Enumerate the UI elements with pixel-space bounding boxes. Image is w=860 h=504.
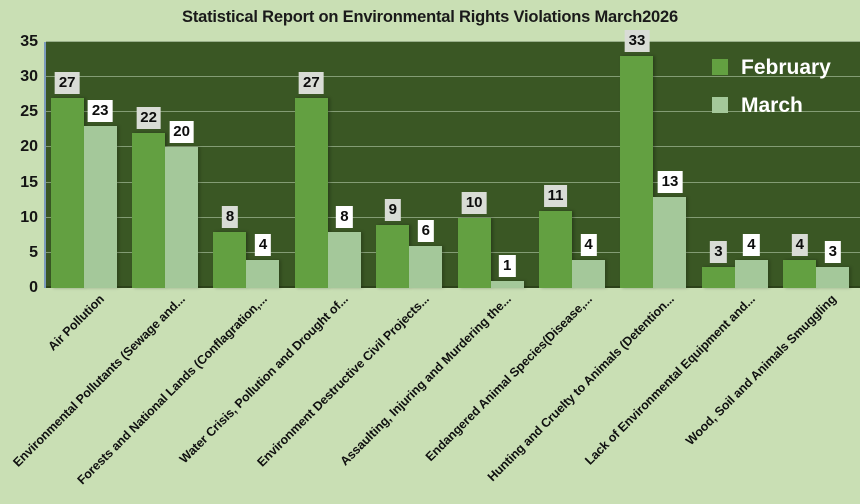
bar-feb[interactable] bbox=[539, 211, 572, 288]
bar-value-label: 23 bbox=[88, 100, 113, 122]
bar-value-label: 33 bbox=[625, 30, 650, 52]
x-axis-tick-label: Endangered Animal Species(Disease,... bbox=[423, 292, 595, 464]
bar-mar[interactable] bbox=[735, 260, 768, 288]
bar-mar[interactable] bbox=[816, 267, 849, 288]
bar-feb[interactable] bbox=[295, 98, 328, 288]
bar-mar[interactable] bbox=[491, 281, 524, 288]
bar-mar[interactable] bbox=[165, 147, 198, 288]
bar-mar[interactable] bbox=[572, 260, 605, 288]
bar-value-label: 8 bbox=[336, 206, 352, 228]
bar-value-label: 11 bbox=[544, 185, 568, 207]
bar-value-label: 27 bbox=[299, 72, 324, 94]
bar-group: 114 bbox=[534, 42, 615, 288]
bar-feb[interactable] bbox=[702, 267, 735, 288]
x-axis-tick-label: Lack of Environmental Equipment and... bbox=[582, 292, 758, 468]
bar-value-label: 9 bbox=[385, 199, 401, 221]
x-axis-tick-label: Environmental Pollutants (Sewage and... bbox=[10, 292, 188, 470]
y-axis-tick-label: 10 bbox=[0, 210, 38, 226]
bar-feb[interactable] bbox=[376, 225, 409, 288]
bar-group: 2723 bbox=[46, 42, 127, 288]
x-axis-tick-label: Water Crisis, Pollution and Drought of..… bbox=[177, 292, 351, 466]
bar-value-label: 4 bbox=[743, 234, 759, 256]
x-axis: Air PollutionEnvironmental Pollutants (S… bbox=[44, 292, 860, 502]
bar-value-label: 22 bbox=[136, 107, 161, 129]
x-axis-tick-label: Environment Destructive Civil Projects..… bbox=[255, 292, 432, 469]
bar-mar[interactable] bbox=[653, 197, 686, 288]
legend-item-mar[interactable]: March bbox=[712, 86, 852, 124]
y-axis-tick-label: 15 bbox=[0, 175, 38, 191]
bar-mar[interactable] bbox=[328, 232, 361, 288]
y-axis-tick-label: 25 bbox=[0, 104, 38, 120]
bar-feb[interactable] bbox=[620, 56, 653, 288]
y-axis-tick-label: 30 bbox=[0, 69, 38, 85]
bar-mar[interactable] bbox=[409, 246, 442, 288]
bar-mar[interactable] bbox=[246, 260, 279, 288]
y-axis-tick-label: 0 bbox=[0, 280, 38, 296]
legend-item-feb[interactable]: February bbox=[712, 48, 852, 86]
y-axis: 05101520253035 bbox=[0, 42, 38, 288]
bar-group: 84 bbox=[209, 42, 290, 288]
bar-value-label: 4 bbox=[255, 234, 271, 256]
bar-feb[interactable] bbox=[458, 218, 491, 288]
bar-group: 2220 bbox=[127, 42, 208, 288]
bar-value-label: 27 bbox=[55, 72, 80, 94]
bar-value-label: 1 bbox=[499, 255, 515, 277]
x-axis-tick-label: Assaulting, Injuring and Murdering the..… bbox=[337, 292, 513, 468]
chart-title: Statistical Report on Environmental Righ… bbox=[0, 8, 860, 27]
y-axis-tick-label: 20 bbox=[0, 139, 38, 155]
bar-value-label: 6 bbox=[418, 220, 434, 242]
bar-group: 96 bbox=[372, 42, 453, 288]
bar-chart: Statistical Report on Environmental Righ… bbox=[0, 0, 860, 504]
y-axis-tick-label: 35 bbox=[0, 34, 38, 50]
y-axis-tick-label: 5 bbox=[0, 245, 38, 261]
bar-feb[interactable] bbox=[132, 133, 165, 288]
bar-feb[interactable] bbox=[51, 98, 84, 288]
bar-value-label: 4 bbox=[792, 234, 808, 256]
bar-value-label: 20 bbox=[169, 121, 194, 143]
bar-value-label: 4 bbox=[580, 234, 596, 256]
legend-label: March bbox=[741, 95, 803, 116]
bar-group: 278 bbox=[290, 42, 371, 288]
bar-feb[interactable] bbox=[213, 232, 246, 288]
bar-value-label: 8 bbox=[222, 206, 238, 228]
legend-swatch-icon bbox=[712, 59, 728, 75]
x-axis-tick-label: Wood, Soil and Animals Smuggling bbox=[683, 292, 839, 448]
x-axis-tick-label: Air Pollution bbox=[45, 292, 107, 354]
x-axis-tick-label: Hunting and Cruelty to Animals (Detentio… bbox=[484, 292, 676, 484]
bar-value-label: 13 bbox=[658, 171, 683, 193]
bar-group: 101 bbox=[453, 42, 534, 288]
bar-group: 3313 bbox=[616, 42, 697, 288]
chart-legend: FebruaryMarch bbox=[712, 48, 852, 124]
bar-value-label: 3 bbox=[825, 241, 841, 263]
bar-mar[interactable] bbox=[84, 126, 117, 288]
legend-label: February bbox=[741, 57, 831, 78]
legend-swatch-icon bbox=[712, 97, 728, 113]
bar-feb[interactable] bbox=[783, 260, 816, 288]
x-axis-tick-label: Forests and National Lands (Conflagratio… bbox=[74, 292, 269, 487]
bar-value-label: 10 bbox=[462, 192, 487, 214]
bar-value-label: 3 bbox=[710, 241, 726, 263]
